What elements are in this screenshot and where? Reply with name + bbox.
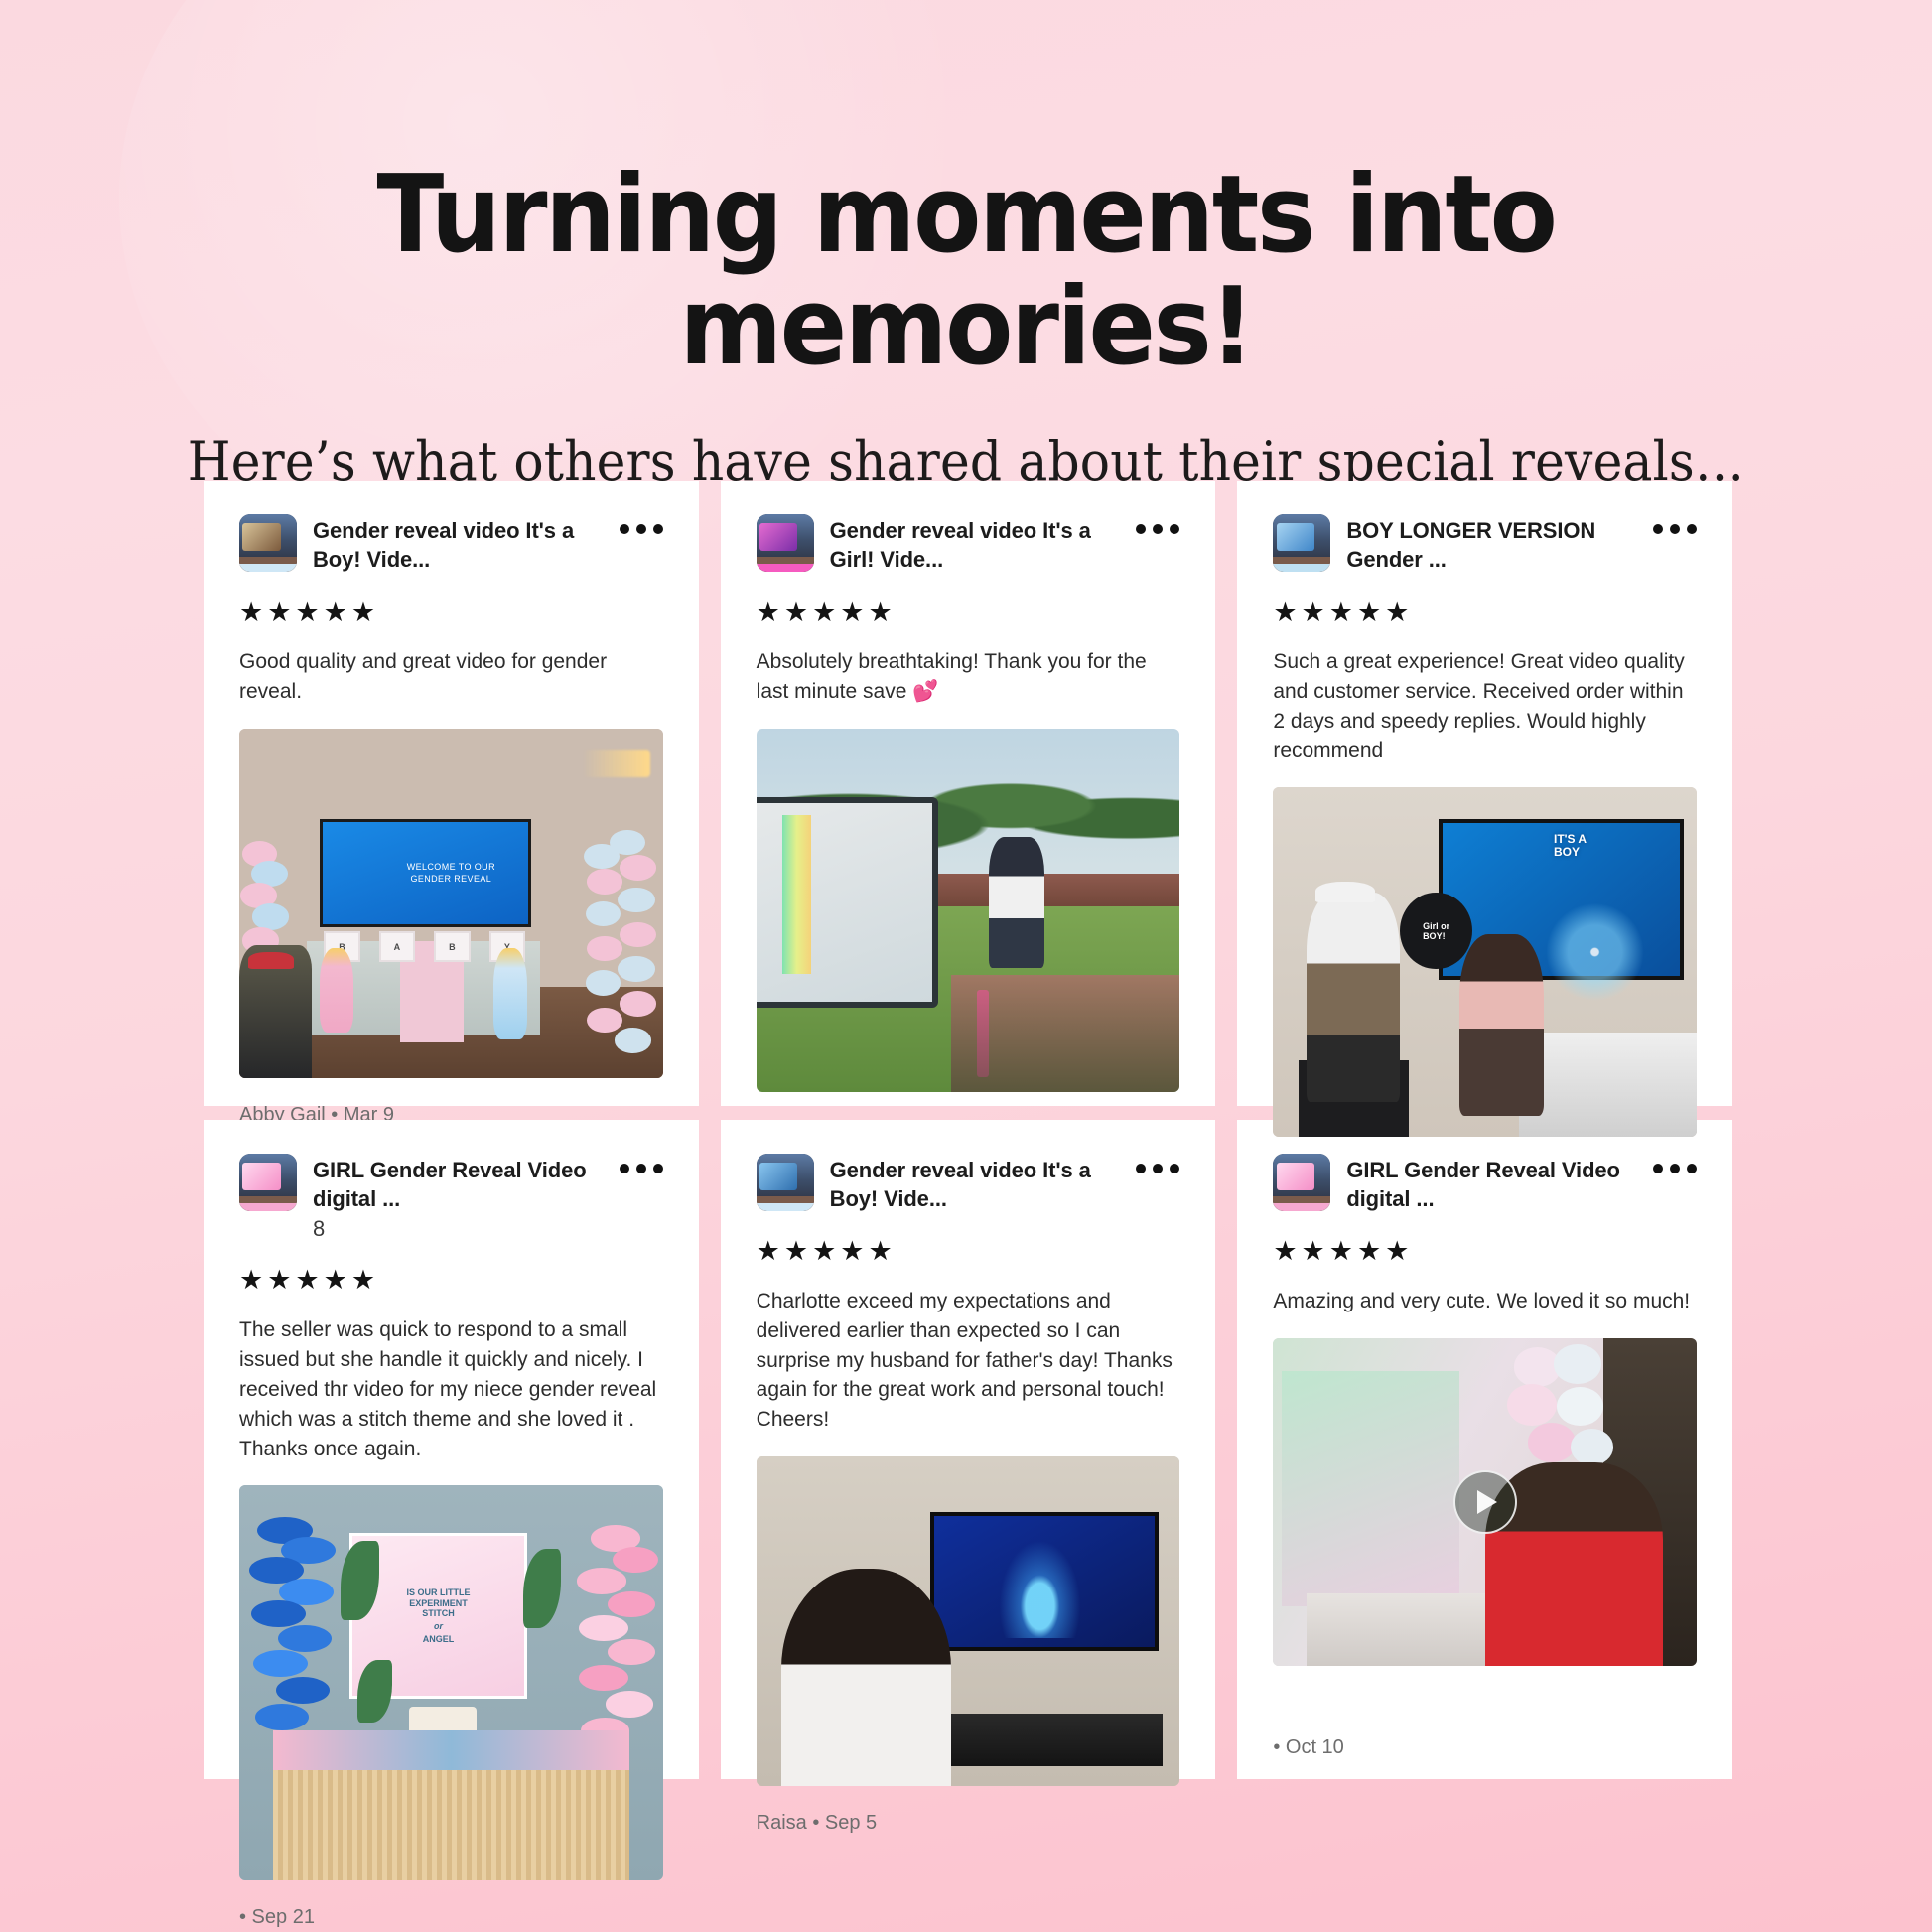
listing-title-wrap: Gender reveal video It's a Boy! Vide... [830,1154,1111,1214]
listing-title[interactable]: Gender reveal video It's a Girl! Vide... [830,516,1111,575]
listing-title[interactable]: Gender reveal video It's a Boy! Vide... [313,516,594,575]
review-meta: • Oct 10 [1273,1711,1697,1759]
listing-title[interactable]: BOY LONGER VERSION Gender ... [1346,516,1627,575]
review-text: Absolutely breathtaking! Thank you for t… [757,647,1180,707]
review-header: BOY LONGER VERSION Gender ... [1273,514,1697,575]
listing-title-wrap: Gender reveal video It's a Girl! Vide... [830,514,1111,575]
review-card[interactable]: BOY LONGER VERSION Gender ... ★★★★★ Such… [1237,481,1732,1106]
more-options-icon[interactable] [1136,514,1179,534]
listing-thumbnail[interactable] [1273,1154,1330,1211]
review-card[interactable]: GIRL Gender Reveal Video digital ... ★★★… [1237,1120,1732,1779]
rating-stars: ★★★★★ [757,599,1180,625]
review-card[interactable]: Gender reveal video It's a Boy! Vide... … [204,481,699,1106]
review-text: Good quality and great video for gender … [239,647,663,707]
review-text: Such a great experience! Great video qua… [1273,647,1697,765]
review-card[interactable]: Gender reveal video It's a Boy! Vide... … [721,1120,1216,1779]
review-meta: • Sep 21 [239,1880,663,1929]
review-card[interactable]: Gender reveal video It's a Girl! Vide...… [721,481,1216,1106]
review-photo[interactable] [757,1456,1180,1786]
rating-stars: ★★★★★ [757,1238,1180,1265]
review-header: GIRL Gender Reveal Video digital ... [1273,1154,1697,1214]
review-header: Gender reveal video It's a Boy! Vide... [239,514,663,575]
more-options-icon[interactable] [620,514,663,534]
listing-title-wrap: Gender reveal video It's a Boy! Vide... [313,514,594,575]
listing-thumbnail[interactable] [757,514,814,572]
review-photo[interactable]: IS OUR LITTLEEXPERIMENTSTITCH or ANGEL [239,1485,663,1880]
more-options-icon[interactable] [620,1154,663,1173]
review-header: Gender reveal video It's a Boy! Vide... [757,1154,1180,1214]
listing-thumbnail[interactable] [757,1154,814,1211]
review-text: Charlotte exceed my expectations and del… [757,1287,1180,1435]
listing-thumbnail[interactable] [1273,514,1330,572]
review-text-body: Absolutely breathtaking! Thank you for t… [757,650,1147,703]
listing-title[interactable]: GIRL Gender Reveal Video digital ... [313,1156,594,1214]
review-photo[interactable] [757,729,1180,1092]
more-options-icon[interactable] [1653,514,1697,534]
page-header: Turning moments into memories! Here’s wh… [0,0,1932,492]
play-video-button[interactable] [1453,1470,1517,1534]
review-photo[interactable]: WELCOME TO OURGENDER REVEAL B A B Y [239,729,663,1078]
review-card[interactable]: GIRL Gender Reveal Video digital ... 8 ★… [204,1120,699,1779]
review-header: GIRL Gender Reveal Video digital ... 8 [239,1154,663,1243]
play-icon [1477,1490,1497,1514]
review-photo[interactable]: IT'S ABOY Girl orBOY! [1273,787,1697,1137]
listing-title-wrap: GIRL Gender Reveal Video digital ... [1346,1154,1627,1214]
rating-stars: ★★★★★ [1273,1238,1697,1265]
review-meta: Raisa • Sep 5 [757,1786,1180,1835]
review-text: Amazing and very cute. We loved it so mu… [1273,1287,1697,1316]
listing-title-wrap: GIRL Gender Reveal Video digital ... 8 [313,1154,594,1243]
reviews-grid: Gender reveal video It's a Boy! Vide... … [204,481,1732,1779]
more-options-icon[interactable] [1653,1154,1697,1173]
listing-title[interactable]: GIRL Gender Reveal Video digital ... [1346,1156,1627,1214]
rating-stars: ★★★★★ [239,1267,663,1294]
page-title: Turning moments into memories! [77,159,1855,384]
listing-thumbnail[interactable] [239,514,297,572]
review-header: Gender reveal video It's a Girl! Vide... [757,514,1180,575]
rating-stars: ★★★★★ [1273,599,1697,625]
listing-title-wrap: BOY LONGER VERSION Gender ... [1346,514,1627,575]
listing-title-overflow: 8 [313,1214,594,1243]
heart-emoji-icon: 💕 [912,680,938,703]
review-video[interactable] [1273,1338,1697,1666]
review-text: The seller was quick to respond to a sma… [239,1315,663,1463]
rating-stars: ★★★★★ [239,599,663,625]
listing-title[interactable]: Gender reveal video It's a Boy! Vide... [830,1156,1111,1214]
listing-thumbnail[interactable] [239,1154,297,1211]
more-options-icon[interactable] [1136,1154,1179,1173]
